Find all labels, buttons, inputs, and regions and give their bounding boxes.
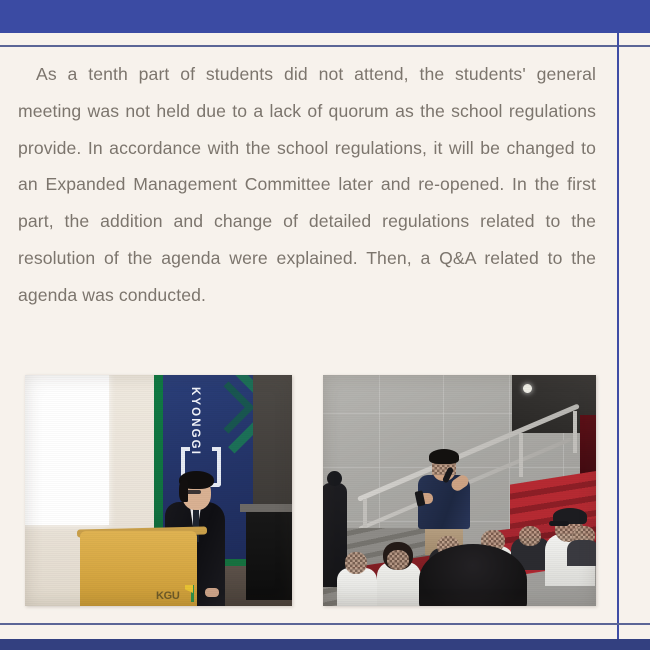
article-body: As a tenth part of students did not atte… <box>18 56 596 314</box>
podium-speaker-photo[interactable]: KYONGGI <box>25 375 292 606</box>
article-paragraph: As a tenth part of students did not atte… <box>18 56 596 314</box>
projection-screen <box>25 375 109 525</box>
audience-qa-photo[interactable] <box>323 375 596 606</box>
audience-member-7 <box>567 518 596 566</box>
top-accent-bar <box>0 0 650 33</box>
audience-6-cap-brim <box>549 521 569 526</box>
audience-scene <box>323 375 596 606</box>
handrail-post-4 <box>573 411 577 453</box>
presenter-hand <box>205 588 219 597</box>
top-horizontal-rule <box>0 45 650 47</box>
audience-7-torso <box>567 540 596 566</box>
lectern-flag-icon <box>185 585 196 602</box>
handrail-post-3 <box>519 433 523 477</box>
audience-2-face-pixelation <box>387 550 409 570</box>
banner-wordmark: KYONGGI <box>189 387 201 456</box>
speaker-cabinet-top <box>240 504 292 512</box>
ceiling-lamp <box>523 384 532 393</box>
audience-member-2 <box>375 536 423 606</box>
speaker-cabinet <box>246 512 292 600</box>
foreground-head-silhouette <box>419 544 527 606</box>
page-canvas: As a tenth part of students did not atte… <box>0 0 650 650</box>
bottom-horizontal-rule <box>0 623 650 625</box>
speaker-hair <box>429 449 459 464</box>
lectern: KGU <box>80 531 197 606</box>
right-vertical-rule <box>617 33 619 640</box>
lectern-logo-text: KGU <box>156 590 180 602</box>
presenter-hair-side <box>179 480 188 502</box>
standing-staff-head <box>327 471 342 486</box>
bottom-accent-bar <box>0 639 650 650</box>
audience-1-face-pixelation <box>345 552 367 574</box>
audience-5-face-pixelation <box>519 526 541 546</box>
audience-member-1 <box>333 550 379 606</box>
podium-scene: KYONGGI <box>25 375 292 606</box>
